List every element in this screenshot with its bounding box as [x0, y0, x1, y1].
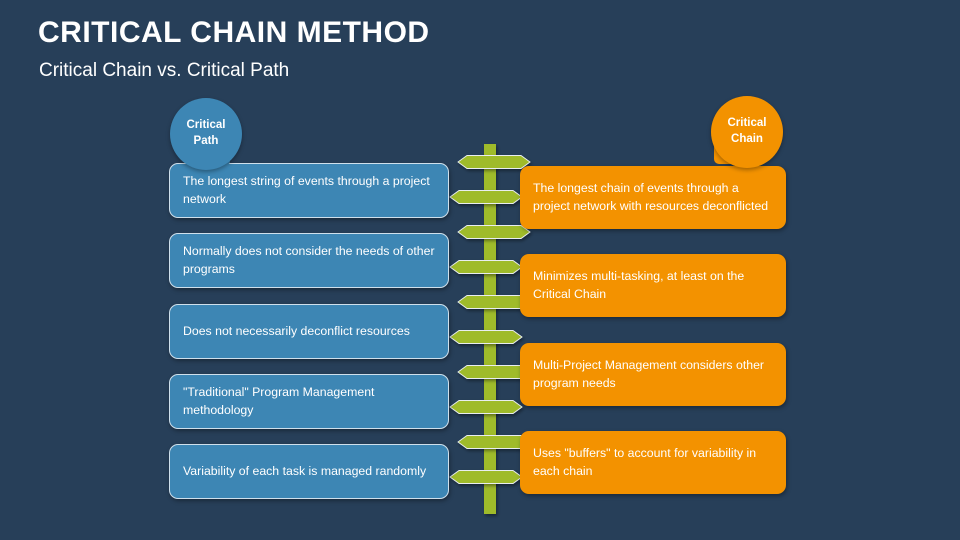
critical-path-item-3[interactable]: Does not necessarily deconflict resource… — [169, 304, 449, 359]
critical-chain-badge-line2: Chain — [731, 132, 763, 148]
chain-link-3 — [458, 226, 530, 239]
critical-chain-item-2[interactable]: Minimizes multi-tasking, at least on the… — [520, 254, 786, 317]
critical-path-item-1[interactable]: The longest string of events through a p… — [169, 163, 449, 218]
critical-chain-item-1[interactable]: The longest chain of events through a pr… — [520, 166, 786, 229]
critical-chain-item-3-label: Multi-Project Management considers other… — [533, 357, 773, 392]
critical-chain-item-4[interactable]: Uses "buffers" to account for variabilit… — [520, 431, 786, 494]
critical-path-item-1-label: The longest string of events through a p… — [183, 173, 435, 208]
page-title: CRITICAL CHAIN METHOD — [38, 16, 430, 50]
critical-path-badge-line2: Path — [194, 134, 219, 150]
critical-path-item-5-label: Variability of each task is managed rand… — [183, 463, 426, 480]
critical-path-item-4[interactable]: "Traditional" Program Management methodo… — [169, 374, 449, 429]
critical-chain-item-4-label: Uses "buffers" to account for variabilit… — [533, 445, 773, 480]
critical-path-item-5[interactable]: Variability of each task is managed rand… — [169, 444, 449, 499]
critical-path-badge-line1: Critical — [187, 118, 226, 134]
critical-chain-item-3[interactable]: Multi-Project Management considers other… — [520, 343, 786, 406]
critical-path-item-2[interactable]: Normally does not consider the needs of … — [169, 233, 449, 288]
chain-link-8 — [450, 401, 522, 414]
chain-link-10 — [450, 471, 522, 484]
critical-path-item-2-label: Normally does not consider the needs of … — [183, 243, 435, 278]
critical-chain-item-2-label: Minimizes multi-tasking, at least on the… — [533, 268, 773, 303]
chain-link-4 — [450, 261, 522, 274]
critical-path-badge[interactable]: Critical Path — [170, 98, 242, 170]
chain-link-1 — [458, 156, 530, 169]
page-subtitle: Critical Chain vs. Critical Path — [39, 60, 289, 82]
chain-link-6 — [450, 331, 522, 344]
critical-chain-badge[interactable]: Critical Chain — [711, 96, 783, 168]
critical-chain-badge-line1: Critical — [728, 116, 767, 132]
critical-path-item-4-label: "Traditional" Program Management methodo… — [183, 384, 435, 419]
chain-link-2 — [450, 191, 522, 204]
critical-chain-item-1-label: The longest chain of events through a pr… — [533, 180, 773, 215]
slide-canvas: CRITICAL CHAIN METHOD Critical Chain vs.… — [0, 0, 960, 540]
critical-path-item-3-label: Does not necessarily deconflict resource… — [183, 323, 410, 340]
